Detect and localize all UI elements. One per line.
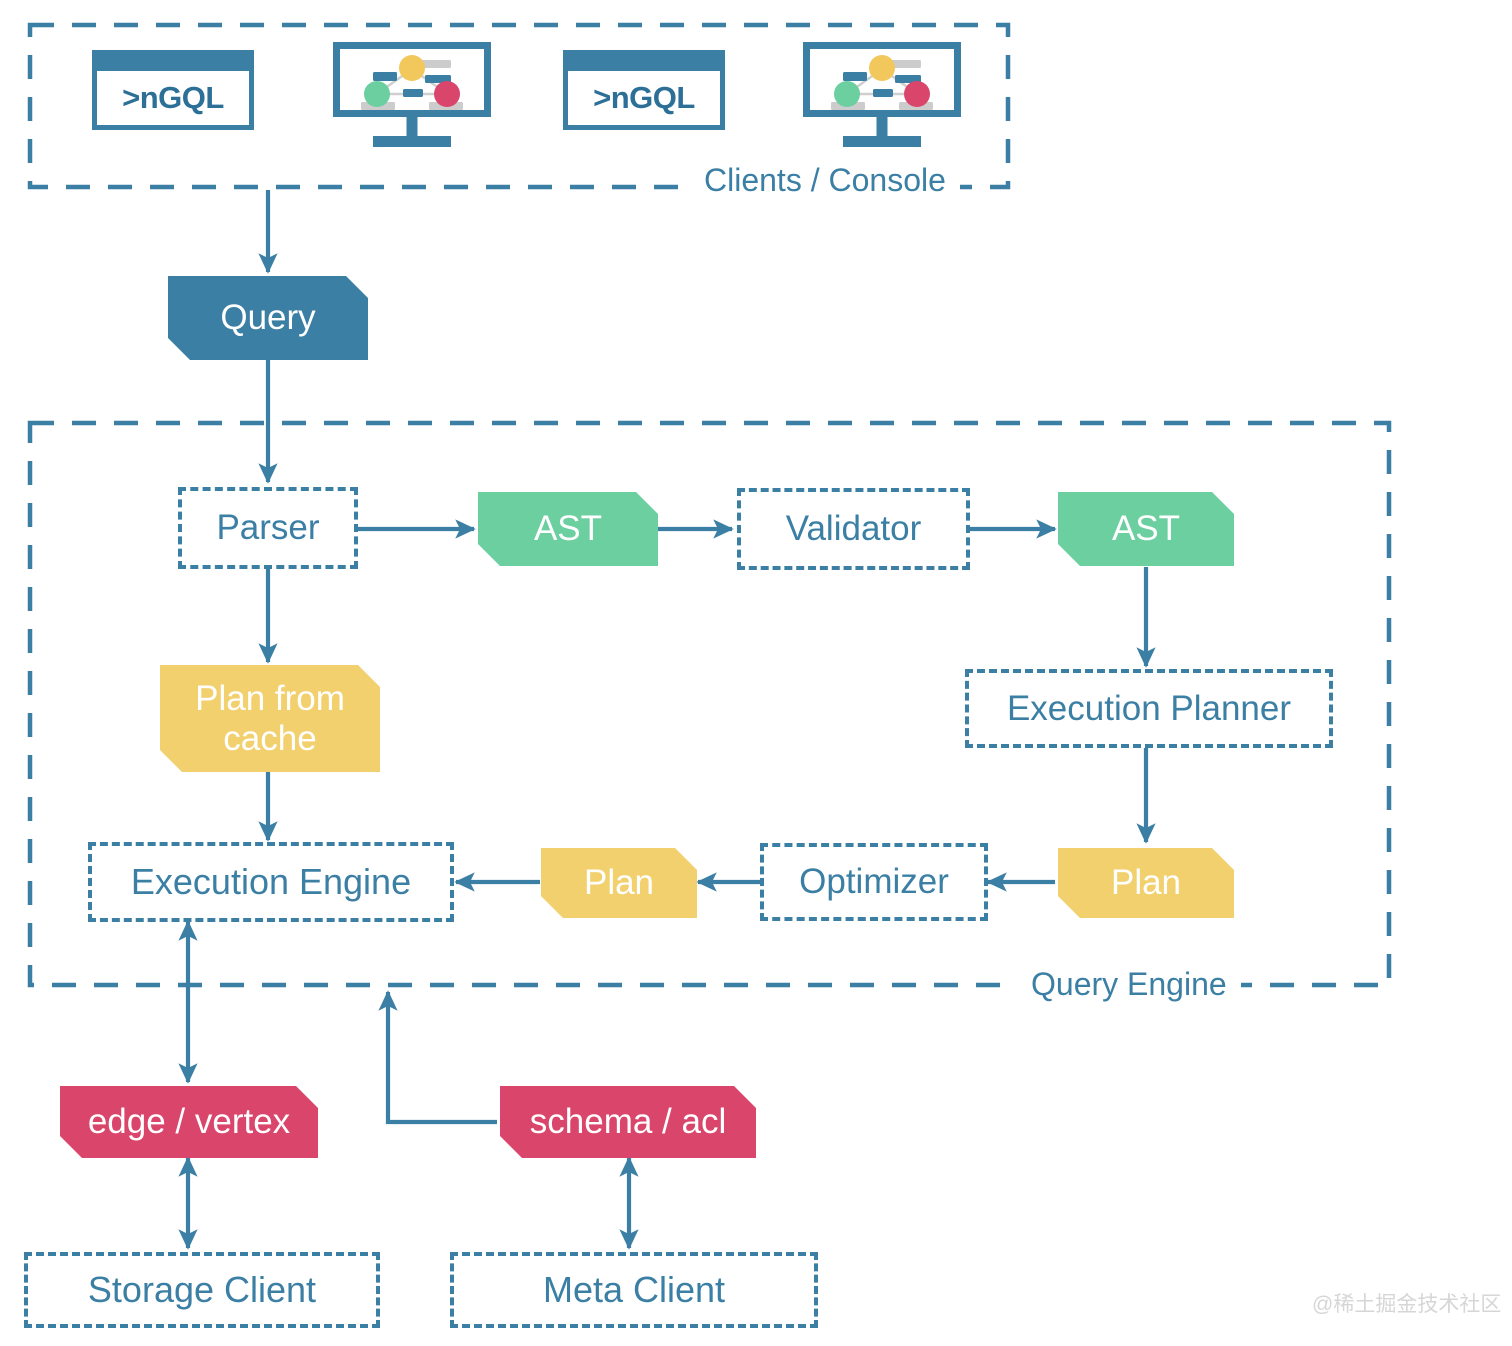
monitor-graph-visual bbox=[333, 42, 491, 117]
node-parser[interactable]: Parser bbox=[178, 487, 358, 569]
node-schema-acl[interactable]: schema / acl bbox=[500, 1086, 756, 1158]
monitor-base bbox=[843, 136, 921, 147]
node-optimizer-label: Optimizer bbox=[799, 862, 949, 901]
monitor-neck bbox=[877, 117, 888, 136]
terminal-titlebar bbox=[97, 55, 249, 71]
connector-schemaacl-queryengine bbox=[388, 992, 497, 1122]
node-plan-raw[interactable]: Plan bbox=[1058, 848, 1234, 918]
node-execution-engine-label: Execution Engine bbox=[131, 862, 411, 902]
node-query-label: Query bbox=[220, 298, 315, 337]
client-terminal-2[interactable]: >nGQL bbox=[563, 50, 725, 130]
node-schema-acl-label: schema / acl bbox=[530, 1102, 726, 1141]
monitor-base bbox=[373, 136, 451, 147]
node-execution-planner-label: Execution Planner bbox=[1007, 689, 1291, 728]
group-label-clients: Clients / Console bbox=[690, 162, 960, 199]
watermark-text: @稀土掘金技术社区 bbox=[1312, 1288, 1501, 1318]
client-monitor-1[interactable] bbox=[333, 42, 491, 147]
client-terminal-1[interactable]: >nGQL bbox=[92, 50, 254, 130]
node-ast-1-label: AST bbox=[534, 509, 602, 548]
terminal-prompt-label: >nGQL bbox=[593, 80, 695, 116]
node-edge-vertex[interactable]: edge / vertex bbox=[60, 1086, 318, 1158]
diagram-canvas: Clients / Console Query Engine >nGQL bbox=[0, 0, 1512, 1346]
node-storage-client-label: Storage Client bbox=[88, 1270, 316, 1310]
terminal-body: >nGQL bbox=[568, 71, 720, 125]
node-plan-optimized[interactable]: Plan bbox=[541, 848, 697, 918]
monitor-graph-visual bbox=[803, 42, 961, 117]
terminal-titlebar bbox=[568, 55, 720, 71]
node-ast-1[interactable]: AST bbox=[478, 492, 658, 566]
node-parser-label: Parser bbox=[216, 508, 319, 547]
node-plan-raw-label: Plan bbox=[1111, 863, 1181, 902]
node-edge-vertex-label: edge / vertex bbox=[88, 1102, 290, 1141]
node-validator[interactable]: Validator bbox=[737, 488, 970, 570]
terminal-prompt-label: >nGQL bbox=[122, 80, 224, 116]
node-execution-planner[interactable]: Execution Planner bbox=[965, 669, 1333, 748]
node-query[interactable]: Query bbox=[168, 276, 368, 360]
node-ast-2[interactable]: AST bbox=[1058, 492, 1234, 566]
group-label-query-engine: Query Engine bbox=[1017, 966, 1241, 1003]
client-monitor-2[interactable] bbox=[803, 42, 961, 147]
node-optimizer[interactable]: Optimizer bbox=[760, 843, 988, 921]
node-meta-client[interactable]: Meta Client bbox=[450, 1252, 818, 1328]
node-execution-engine[interactable]: Execution Engine bbox=[88, 842, 454, 922]
node-plan-optimized-label: Plan bbox=[584, 863, 654, 902]
node-meta-client-label: Meta Client bbox=[543, 1270, 725, 1310]
node-ast-2-label: AST bbox=[1112, 509, 1180, 548]
monitor-neck bbox=[407, 117, 418, 136]
node-validator-label: Validator bbox=[786, 509, 922, 548]
terminal-body: >nGQL bbox=[97, 71, 249, 125]
node-storage-client[interactable]: Storage Client bbox=[24, 1252, 380, 1328]
node-plan-from-cache[interactable]: Plan from cache bbox=[160, 665, 380, 772]
node-plan-from-cache-label: Plan from cache bbox=[178, 679, 362, 757]
